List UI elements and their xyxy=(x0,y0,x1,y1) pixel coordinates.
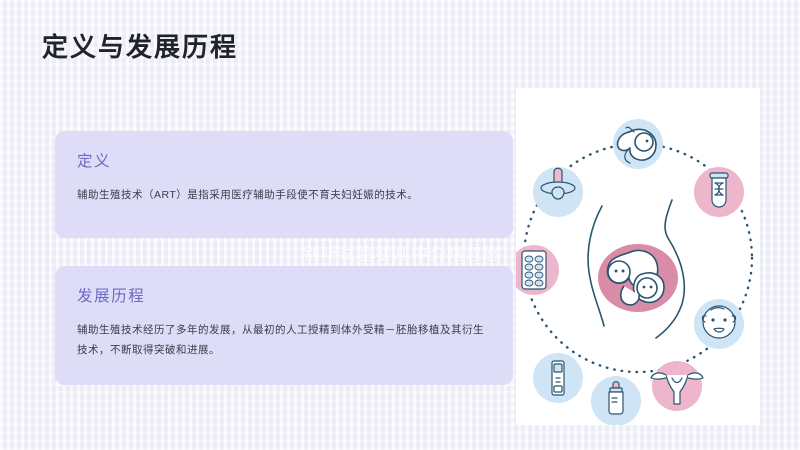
fetus-icon xyxy=(613,119,663,169)
pregnant-belly-group xyxy=(588,200,684,338)
history-card-body: 辅助生殖技术经历了多年的发展，从最初的人工授精到体外受精－胚胎移植及其衍生技术，… xyxy=(77,320,491,361)
illustration-panel: .ln { fill:none; stroke:#2a5571; stroke-… xyxy=(516,88,760,425)
watermark-text: 别听试管婴儿中介瞎忽悠 xyxy=(282,240,522,265)
uterus-icon xyxy=(651,361,703,411)
definition-card: 定义 辅助生殖技术（ART）是指采用医疗辅助手段使不育夫妇妊娠的技术。 xyxy=(55,131,513,238)
definition-card-body: 辅助生殖技术（ART）是指采用医疗辅助手段使不育夫妇妊娠的技术。 xyxy=(77,185,491,205)
definition-card-heading: 定义 xyxy=(77,149,491,171)
dna-test-tube-icon xyxy=(694,167,744,217)
history-card: 发展历程 辅助生殖技术经历了多年的发展，从最初的人工授精到体外受精－胚胎移植及其… xyxy=(55,266,513,385)
pacifier-icon xyxy=(533,167,583,217)
history-card-heading: 发展历程 xyxy=(77,284,491,306)
page-title: 定义与发展历程 xyxy=(42,27,238,64)
baby-face-icon xyxy=(694,299,744,349)
pregnancy-test-icon xyxy=(533,353,583,403)
slide-canvas: 定义与发展历程 定义 辅助生殖技术（ART）是指采用医疗辅助手段使不育夫妇妊娠的… xyxy=(0,0,800,450)
art-cycle-illustration: .ln { fill:none; stroke:#2a5571; stroke-… xyxy=(516,88,760,425)
baby-bottle-icon xyxy=(591,376,641,425)
pill-blister-icon xyxy=(516,245,559,295)
